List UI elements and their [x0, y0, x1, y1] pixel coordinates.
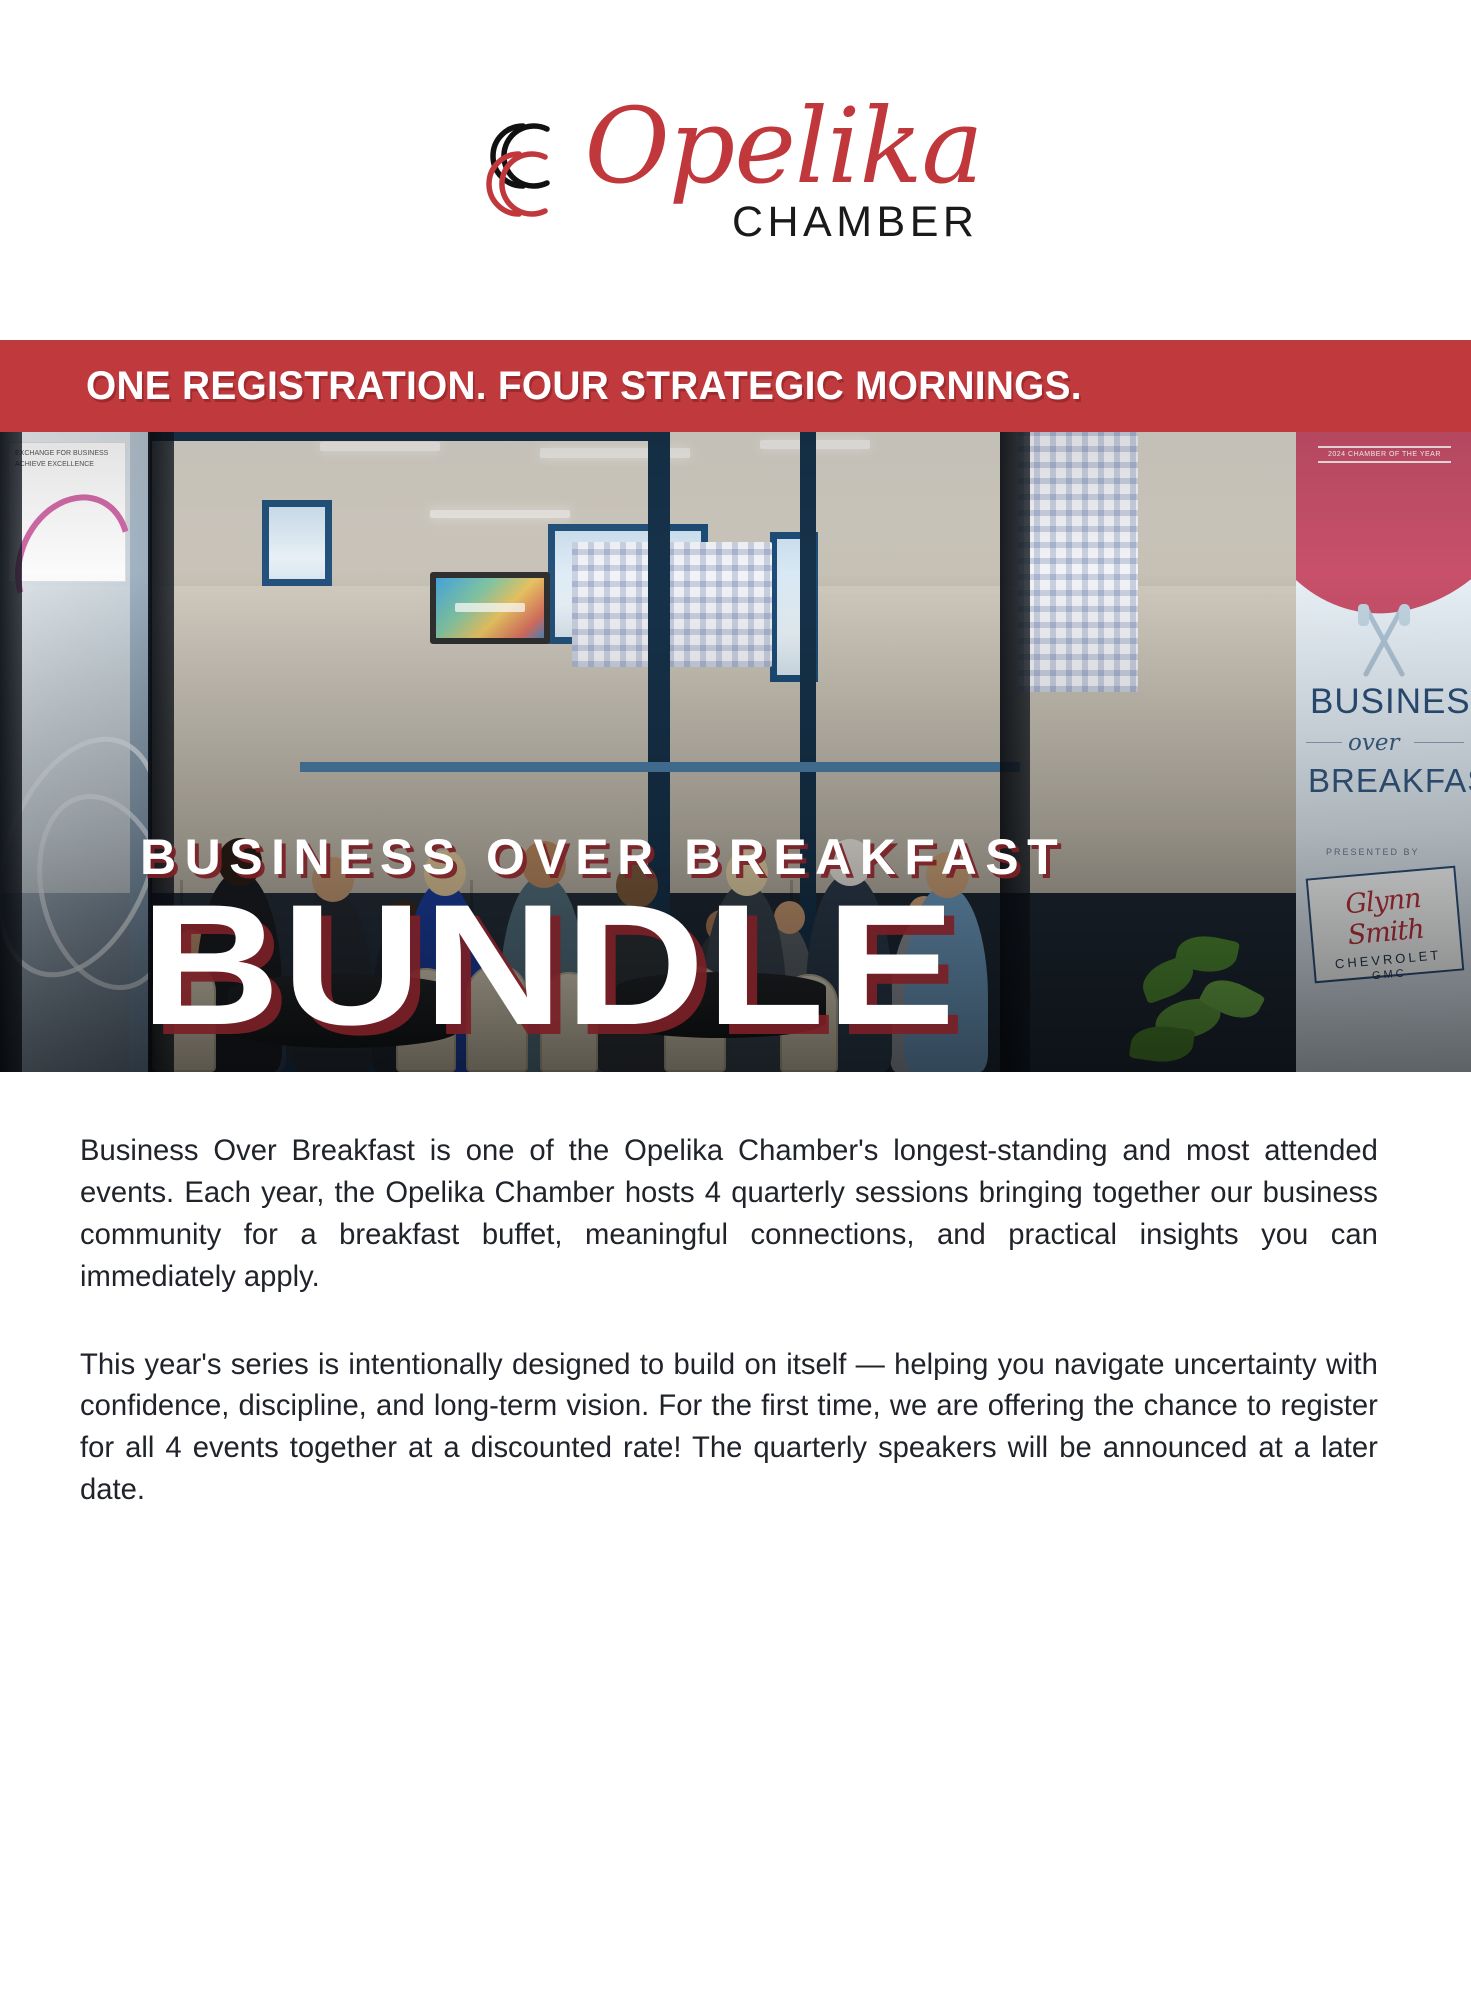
- sponsor-script-name: Glynn Smith: [1309, 880, 1460, 954]
- frame-edge: [0, 432, 22, 1072]
- hero-title-block: BUSINESS OVER BREAKFAST BUNDLE: [140, 832, 1066, 1044]
- crossed-fork-and-knife-icon: [1352, 602, 1416, 685]
- wall-poster-line-2: ACHIEVE EXCELLENCE: [15, 460, 119, 471]
- headline-banner-text: ONE REGISTRATION. FOUR STRATEGIC MORNING…: [86, 364, 1082, 409]
- step-and-repeat-backdrop: [1018, 432, 1138, 692]
- logo-header: Opelika CHAMBER: [0, 0, 1471, 340]
- sponsor-logo: Glynn Smith CHEVROLET GMC: [1306, 866, 1465, 984]
- pullup-line-business: BUSINESS: [1310, 682, 1471, 722]
- logo-script-text: Opelika: [585, 97, 983, 196]
- glass-wall-left: EXCHANGE FOR BUSINESS ACHIEVE EXCELLENCE: [0, 432, 150, 1072]
- pullup-line-over: over: [1348, 730, 1399, 756]
- headline-banner: ONE REGISTRATION. FOUR STRATEGIC MORNING…: [0, 340, 1471, 432]
- award-badge: 2024 CHAMBER OF THE YEAR: [1318, 446, 1451, 463]
- presented-by-label: PRESENTED BY: [1326, 847, 1420, 857]
- pullup-banner: 2024 CHAMBER OF THE YEAR ★★★★★ BUSINESS …: [1296, 432, 1471, 1072]
- hero-title: BUNDLE: [140, 886, 1187, 1044]
- hero-image: EXCHANGE FOR BUSINESS ACHIEVE EXCELLENCE: [0, 432, 1471, 1072]
- pullup-line-breakfast: BREAKFAST: [1308, 762, 1471, 800]
- body-paragraph-1: Business Over Breakfast is one of the Op…: [80, 1130, 1378, 1298]
- logo-wordmark: Opelika CHAMBER: [585, 93, 983, 247]
- wall-poster-line-1: EXCHANGE FOR BUSINESS: [15, 449, 119, 460]
- double-c-monogram-icon: [461, 104, 593, 236]
- body-copy: Business Over Breakfast is one of the Op…: [0, 1072, 1471, 1551]
- opelika-chamber-logo[interactable]: Opelika CHAMBER: [461, 93, 983, 247]
- body-paragraph-2: This year's series is intentionally desi…: [80, 1344, 1378, 1512]
- email-page: Opelika CHAMBER ONE REGISTRATION. FOUR S…: [0, 0, 1471, 2000]
